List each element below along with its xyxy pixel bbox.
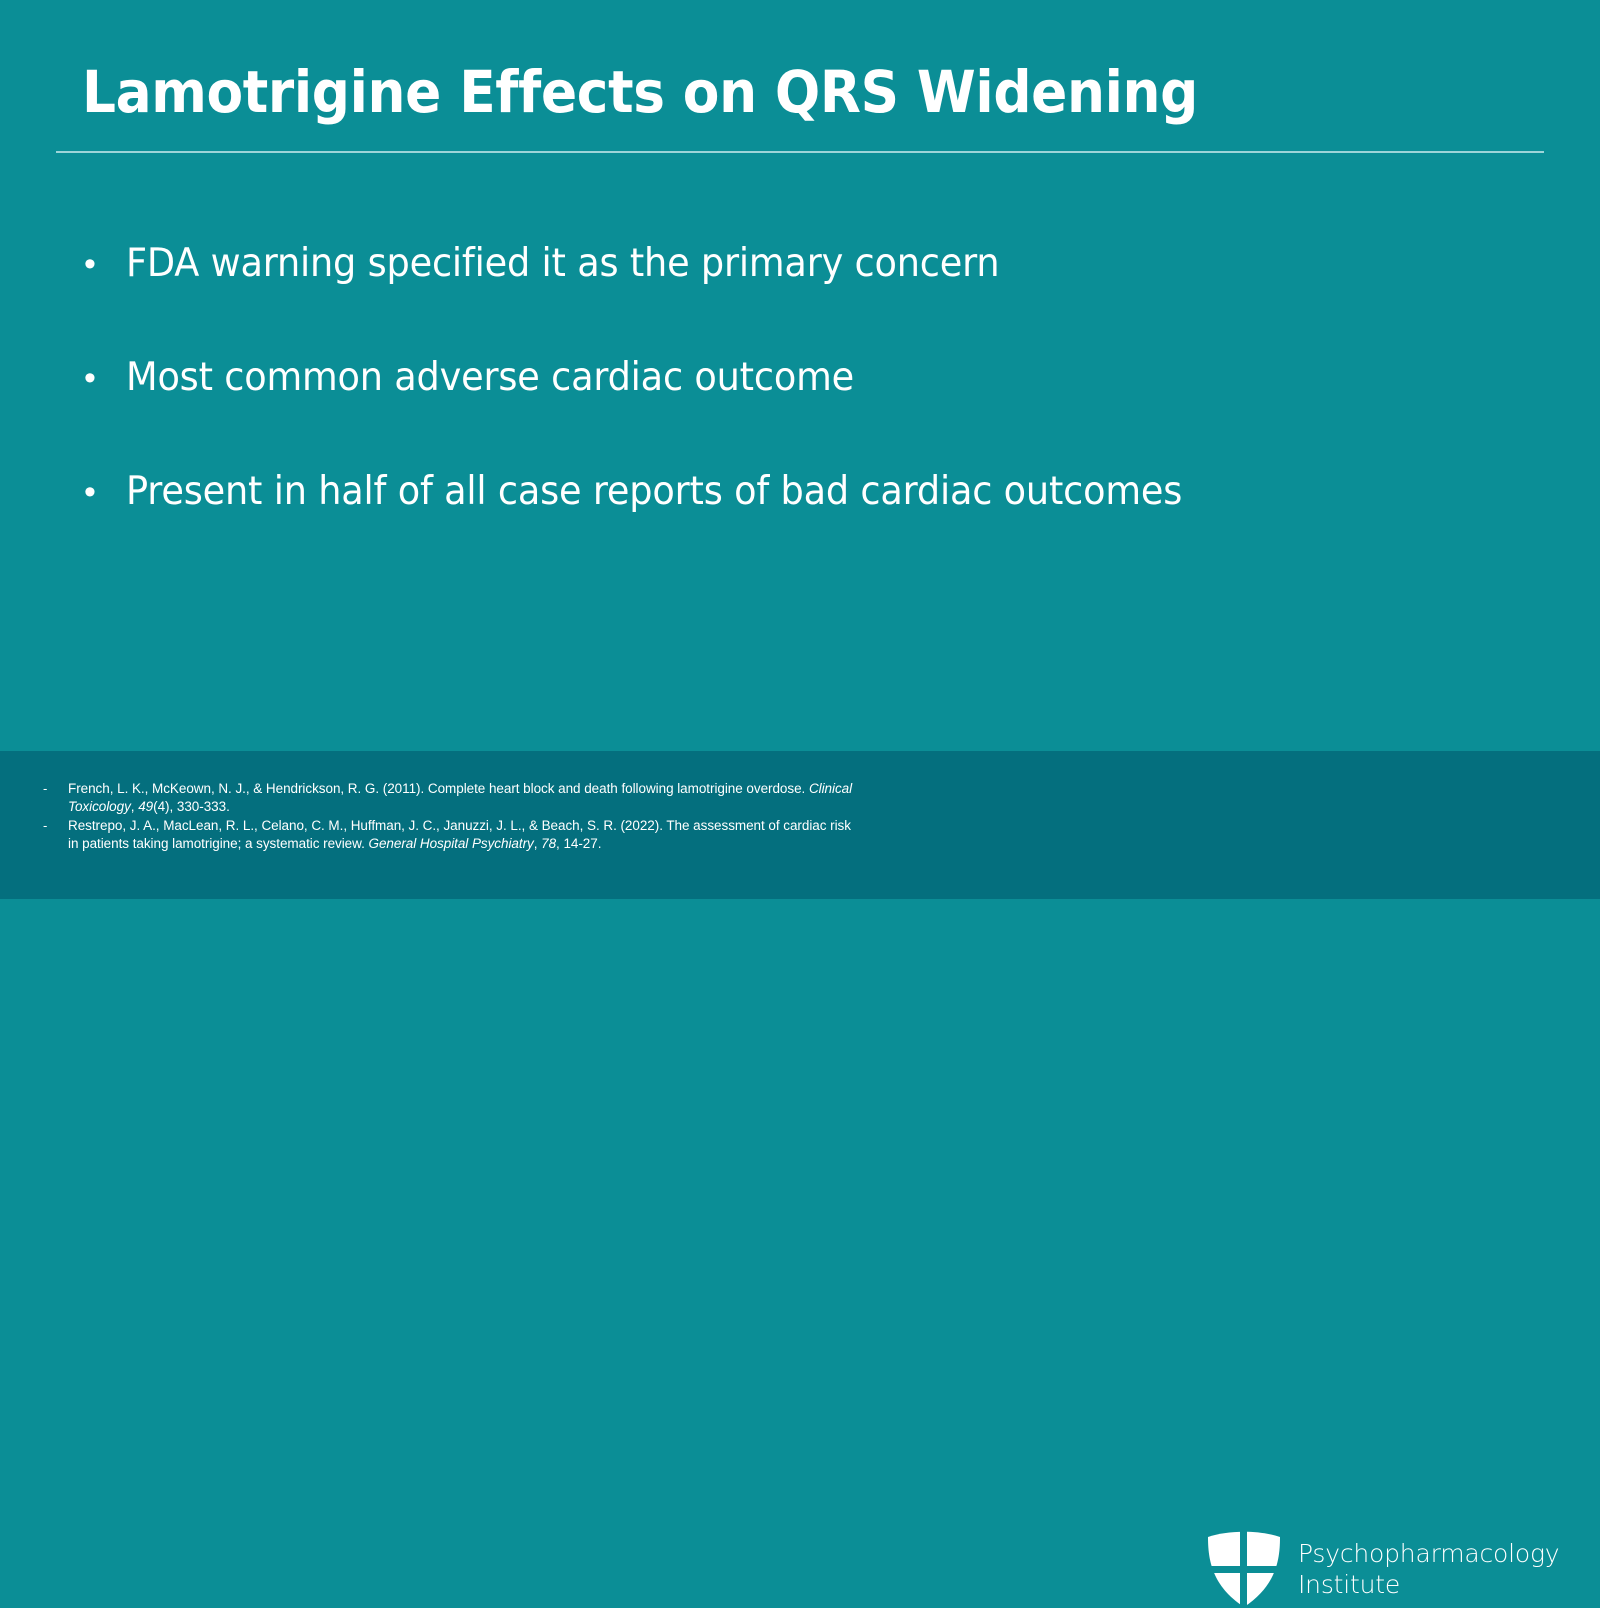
bullet-list: • FDA warning specified it as the primar… bbox=[78, 232, 1518, 574]
footer-band: - French, L. K., McKeown, N. J., & Hendr… bbox=[0, 751, 1600, 899]
shield-icon bbox=[1206, 1530, 1282, 1608]
bullet-text: Most common adverse cardiac outcome bbox=[126, 346, 1434, 410]
brand-name-line2: Institute bbox=[1298, 1569, 1559, 1600]
list-item: • Present in half of all case reports of… bbox=[78, 460, 1518, 574]
reference-dash-icon: - bbox=[43, 817, 68, 835]
bullet-point-icon: • bbox=[78, 346, 126, 410]
brand-name-line1: Psychopharmacology bbox=[1298, 1538, 1559, 1569]
bullet-point-icon: • bbox=[78, 232, 126, 296]
reference-text: French, L. K., McKeown, N. J., & Hendric… bbox=[68, 780, 863, 816]
reference-text-part3: , 14-27. bbox=[556, 836, 601, 851]
reference-text: Restrepo, J. A., MacLean, R. L., Celano,… bbox=[68, 817, 863, 853]
reference-dash-icon: - bbox=[43, 780, 68, 798]
title-block: Lamotrigine Effects on QRS Widening bbox=[82, 62, 1544, 123]
brand-logo: Psychopharmacology Institute bbox=[1206, 1530, 1559, 1608]
reference-volume: 49 bbox=[138, 799, 153, 814]
reference-text-part3: (4), 330-333. bbox=[153, 799, 230, 814]
reference-text-part2: , bbox=[534, 836, 541, 851]
reference-volume: 78 bbox=[541, 836, 556, 851]
list-item: • FDA warning specified it as the primar… bbox=[78, 232, 1518, 346]
page-title: Lamotrigine Effects on QRS Widening bbox=[82, 62, 1427, 123]
reference-journal: General Hospital Psychiatry bbox=[369, 836, 534, 851]
list-item: • Most common adverse cardiac outcome bbox=[78, 346, 1518, 460]
title-divider bbox=[56, 151, 1544, 153]
bullet-point-icon: • bbox=[78, 460, 126, 524]
references-block: - French, L. K., McKeown, N. J., & Hendr… bbox=[43, 780, 863, 854]
brand-wordmark: Psychopharmacology Institute bbox=[1298, 1538, 1559, 1600]
reference-text-part1: French, L. K., McKeown, N. J., & Hendric… bbox=[68, 781, 809, 796]
bullet-text: FDA warning specified it as the primary … bbox=[126, 232, 1434, 296]
slide-canvas: Lamotrigine Effects on QRS Widening • FD… bbox=[0, 0, 1600, 899]
reference-item: - French, L. K., McKeown, N. J., & Hendr… bbox=[43, 780, 863, 816]
bullet-text: Present in half of all case reports of b… bbox=[126, 460, 1434, 524]
reference-item: - Restrepo, J. A., MacLean, R. L., Celan… bbox=[43, 817, 863, 853]
